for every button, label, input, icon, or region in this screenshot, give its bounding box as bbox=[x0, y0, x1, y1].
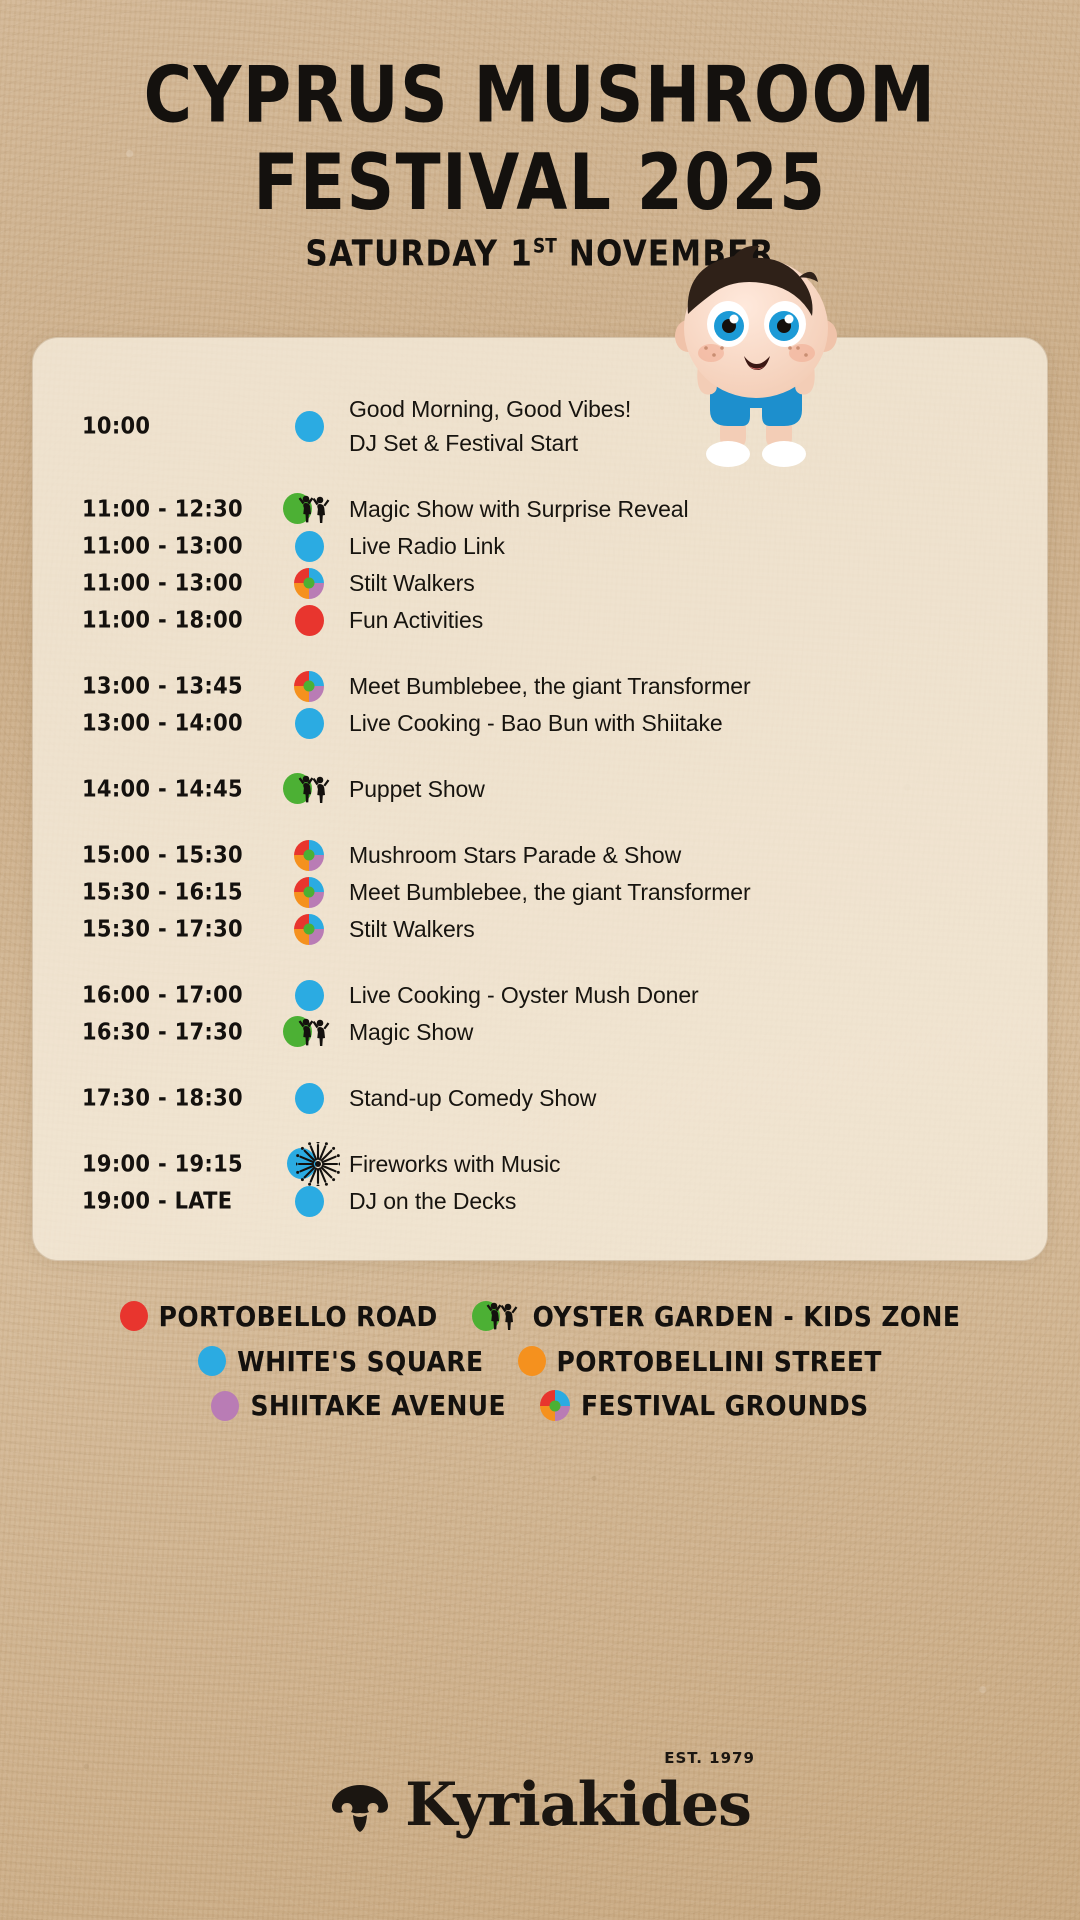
schedule-row-description-line1: Puppet Show bbox=[349, 776, 485, 802]
subtitle-ordinal-suffix: st bbox=[533, 235, 557, 258]
schedule-row-description-line1: Meet Bumblebee, the giant Transformer bbox=[349, 673, 751, 699]
schedule-row-description-line1: Fireworks with Music bbox=[349, 1151, 560, 1177]
schedule-row-venue-icon bbox=[271, 875, 347, 909]
schedule-row-time: 11:00 - 13:00 bbox=[33, 527, 271, 564]
schedule-row-description: Mushroom Stars Parade & Show bbox=[347, 838, 1047, 872]
schedule-row[interactable]: 11:00 - 13:00Live Radio Link bbox=[33, 529, 1047, 565]
schedule-row[interactable]: 17:30 - 18:30Stand-up Comedy Show bbox=[33, 1081, 1047, 1117]
schedule-row-description-line1: Mushroom Stars Parade & Show bbox=[349, 842, 681, 868]
schedule-group: 11:00 - 12:30Magic Show with Surprise Re… bbox=[33, 492, 1047, 639]
schedule-row-time: 16:00 - 17:00 bbox=[33, 976, 271, 1013]
schedule-row[interactable]: 15:30 - 16:15Meet Bumblebee, the giant T… bbox=[33, 875, 1047, 911]
schedule-row-description-line1: Fun Activities bbox=[349, 607, 483, 633]
schedule-group: 19:00 - 19:15Fireworks with Music19:00 -… bbox=[33, 1147, 1047, 1220]
schedule-row-description-line1: Stilt Walkers bbox=[349, 570, 475, 596]
brand-established: EST. 1979 bbox=[664, 1749, 755, 1767]
festival-grounds-icon bbox=[540, 1390, 570, 1421]
schedule-row-time: 10:00 bbox=[33, 407, 271, 444]
schedule-row-venue-icon bbox=[271, 706, 347, 740]
schedule-row-time: 15:00 - 15:30 bbox=[33, 836, 271, 873]
schedule-row[interactable]: 19:00 - 19:15Fireworks with Music bbox=[33, 1147, 1047, 1183]
schedule-row-time: 11:00 - 13:00 bbox=[33, 564, 271, 601]
schedule-row-venue-icon bbox=[271, 1147, 347, 1181]
festival-grounds-icon bbox=[294, 840, 324, 871]
schedule-row[interactable]: 15:30 - 17:30Stilt Walkers bbox=[33, 912, 1047, 948]
schedule-row[interactable]: 16:00 - 17:00Live Cooking - Oyster Mush … bbox=[33, 978, 1047, 1014]
schedule-row-description-line1: Live Radio Link bbox=[349, 533, 505, 559]
schedule-row-time: 17:30 - 18:30 bbox=[33, 1079, 271, 1116]
schedule-row-description-line1: Magic Show bbox=[349, 1019, 473, 1045]
schedule-row[interactable]: 19:00 - LATEDJ on the Decks bbox=[33, 1184, 1047, 1220]
schedule-row[interactable]: 15:00 - 15:30Mushroom Stars Parade & Sho… bbox=[33, 838, 1047, 874]
schedule-row-venue-icon bbox=[271, 1184, 347, 1218]
kids-figures-icon bbox=[484, 1297, 520, 1333]
schedule-row-time: 11:00 - 12:30 bbox=[33, 490, 271, 527]
schedule-row-description: Meet Bumblebee, the giant Transformer bbox=[347, 669, 1047, 703]
red-dot-icon bbox=[295, 605, 324, 636]
festival-grounds-icon bbox=[294, 568, 324, 599]
legend-item: Festival Grounds bbox=[540, 1390, 869, 1421]
schedule-group: 13:00 - 13:45Meet Bumblebee, the giant T… bbox=[33, 669, 1047, 742]
schedule-row-description-line1: Live Cooking - Oyster Mush Doner bbox=[349, 982, 699, 1008]
schedule-row-description-line1: Meet Bumblebee, the giant Transformer bbox=[349, 879, 751, 905]
schedule-row-venue-icon bbox=[271, 1015, 347, 1049]
venue-legend: Portobello RoadOyster Garden - Kids Zone… bbox=[0, 1300, 1080, 1435]
schedule-group: 14:00 - 14:45Puppet Show bbox=[33, 772, 1047, 808]
legend-item-label: White's Square bbox=[237, 1345, 483, 1377]
schedule-row-description: Magic Show bbox=[347, 1015, 1047, 1049]
schedule-row-description: Puppet Show bbox=[347, 772, 1047, 806]
poster-header: Cyprus Mushroom Festival 2025 Saturday 1… bbox=[0, 0, 1080, 272]
fireworks-badge-icon bbox=[287, 1147, 331, 1181]
title-line-2: Festival 2025 bbox=[0, 139, 1080, 226]
schedule-row-venue-icon bbox=[271, 978, 347, 1012]
blue-dot-icon bbox=[295, 708, 324, 739]
legend-item: Oyster Garden - Kids Zone bbox=[472, 1300, 961, 1332]
schedule-row-time: 11:00 - 18:00 bbox=[33, 601, 271, 638]
kids-zone-icon bbox=[283, 492, 335, 526]
schedule-row-venue-icon bbox=[271, 492, 347, 526]
schedule-row-description: DJ on the Decks bbox=[347, 1184, 1047, 1218]
schedule-group: 15:00 - 15:30Mushroom Stars Parade & Sho… bbox=[33, 838, 1047, 948]
schedule-row-description: Stilt Walkers bbox=[347, 566, 1047, 600]
blue-dot-icon bbox=[295, 1083, 324, 1114]
kids-zone-icon bbox=[283, 1015, 335, 1049]
schedule-row[interactable]: 16:30 - 17:30Magic Show bbox=[33, 1015, 1047, 1051]
legend-row: Shiitake AvenueFestival Grounds bbox=[0, 1390, 1080, 1421]
blue-dot-icon bbox=[295, 1186, 324, 1217]
legend-item-label: Oyster Garden - Kids Zone bbox=[533, 1300, 961, 1332]
kids-figures-icon bbox=[296, 490, 332, 526]
schedule-row-description: Stilt Walkers bbox=[347, 912, 1047, 946]
schedule-group: 17:30 - 18:30Stand-up Comedy Show bbox=[33, 1081, 1047, 1117]
schedule-row[interactable]: 10:00Good Morning, Good Vibes!DJ Set & F… bbox=[33, 390, 1047, 462]
blue-dot-icon bbox=[295, 531, 324, 562]
legend-row: Portobello RoadOyster Garden - Kids Zone bbox=[0, 1300, 1080, 1332]
page-title: Cyprus Mushroom Festival 2025 bbox=[0, 52, 1080, 227]
festival-grounds-icon bbox=[294, 671, 324, 702]
schedule-row-venue-icon bbox=[271, 392, 347, 460]
brand-footer: Kyriakides EST. 1979 bbox=[0, 1775, 1080, 1840]
schedule-row-time: 14:00 - 14:45 bbox=[33, 770, 271, 807]
schedule-row-description-line1: Live Cooking - Bao Bun with Shiitake bbox=[349, 710, 723, 736]
mushroom-logo-icon bbox=[329, 1779, 391, 1835]
schedule-row-venue-icon bbox=[271, 566, 347, 600]
schedule-card: 10:00Good Morning, Good Vibes!DJ Set & F… bbox=[32, 337, 1048, 1261]
schedule-row[interactable]: 13:00 - 13:45Meet Bumblebee, the giant T… bbox=[33, 669, 1047, 705]
schedule-row-venue-icon bbox=[271, 603, 347, 637]
schedule-row[interactable]: 13:00 - 14:00Live Cooking - Bao Bun with… bbox=[33, 706, 1047, 742]
schedule-row-description: Stand-up Comedy Show bbox=[347, 1081, 1047, 1115]
schedule-row[interactable]: 11:00 - 12:30Magic Show with Surprise Re… bbox=[33, 492, 1047, 528]
legend-item: Shiitake Avenue bbox=[211, 1391, 506, 1421]
brand-name: Kyriakides bbox=[405, 1775, 751, 1835]
schedule-row-time: 16:30 - 17:30 bbox=[33, 1013, 271, 1050]
legend-item-label: Festival Grounds bbox=[581, 1389, 869, 1421]
mascot-character-illustration bbox=[648, 240, 863, 485]
schedule-row-description-line1: DJ on the Decks bbox=[349, 1188, 516, 1214]
schedule-row-time: 15:30 - 17:30 bbox=[33, 910, 271, 947]
festival-grounds-icon bbox=[294, 877, 324, 908]
schedule-row[interactable]: 14:00 - 14:45Puppet Show bbox=[33, 772, 1047, 808]
red-dot-icon bbox=[120, 1301, 148, 1331]
schedule-row-description-line1: Good Morning, Good Vibes! bbox=[349, 396, 631, 422]
legend-item: White's Square bbox=[198, 1346, 483, 1376]
schedule-row-venue-icon bbox=[271, 838, 347, 872]
schedule-row-venue-icon bbox=[271, 529, 347, 563]
schedule-row-time: 15:30 - 16:15 bbox=[33, 873, 271, 910]
schedule-row-venue-icon bbox=[271, 912, 347, 946]
schedule-row-description: Fireworks with Music bbox=[347, 1147, 1047, 1181]
legend-item-label: Shiitake Avenue bbox=[250, 1389, 506, 1421]
fireworks-icon bbox=[296, 1142, 340, 1186]
schedule-row[interactable]: 11:00 - 18:00Fun Activities bbox=[33, 603, 1047, 639]
schedule-row-time: 13:00 - 13:45 bbox=[33, 667, 271, 704]
schedule-row-time: 19:00 - LATE bbox=[33, 1182, 271, 1219]
schedule-group: 16:00 - 17:00Live Cooking - Oyster Mush … bbox=[33, 978, 1047, 1051]
schedule-row-venue-icon bbox=[271, 669, 347, 703]
kids-zone-icon bbox=[472, 1300, 522, 1332]
legend-item: Portobello Road bbox=[120, 1301, 438, 1331]
legend-item: Portobellini Street bbox=[518, 1346, 882, 1376]
subtitle-prefix: Saturday 1 bbox=[305, 233, 533, 275]
schedule-row-venue-icon bbox=[271, 1081, 347, 1115]
schedule-row-description: Magic Show with Surprise Reveal bbox=[347, 492, 1047, 526]
festival-grounds-icon bbox=[294, 914, 324, 945]
legend-item-label: Portobellini Street bbox=[557, 1345, 882, 1377]
schedule-row-time: 19:00 - 19:15 bbox=[33, 1145, 271, 1182]
event-date-subtitle: Saturday 1st November bbox=[0, 233, 1080, 275]
kids-zone-icon bbox=[283, 772, 335, 806]
purple-dot-icon bbox=[211, 1391, 239, 1421]
schedule-row-description: Meet Bumblebee, the giant Transformer bbox=[347, 875, 1047, 909]
schedule-row[interactable]: 11:00 - 13:00Stilt Walkers bbox=[33, 566, 1047, 602]
schedule-group: 10:00Good Morning, Good Vibes!DJ Set & F… bbox=[33, 390, 1047, 462]
schedule-row-venue-icon bbox=[271, 772, 347, 806]
blue-dot-icon bbox=[295, 980, 324, 1011]
schedule-row-description: Live Cooking - Oyster Mush Doner bbox=[347, 978, 1047, 1012]
kids-figures-icon bbox=[296, 770, 332, 806]
schedule-row-description: Live Radio Link bbox=[347, 529, 1047, 563]
orange-dot-icon bbox=[518, 1346, 546, 1376]
schedule-row-description: Live Cooking - Bao Bun with Shiitake bbox=[347, 706, 1047, 740]
schedule-list: 10:00Good Morning, Good Vibes!DJ Set & F… bbox=[33, 390, 1047, 1220]
kids-figures-icon bbox=[296, 1013, 332, 1049]
schedule-row-description: Fun Activities bbox=[347, 603, 1047, 637]
title-line-1: Cyprus Mushroom bbox=[0, 52, 1080, 139]
schedule-row-description-line1: Stand-up Comedy Show bbox=[349, 1085, 596, 1111]
schedule-row-time: 13:00 - 14:00 bbox=[33, 704, 271, 741]
legend-row: White's SquarePortobellini Street bbox=[0, 1346, 1080, 1376]
blue-dot-icon bbox=[295, 411, 324, 442]
blue-dot-icon bbox=[198, 1346, 226, 1376]
schedule-row-description-line1: Stilt Walkers bbox=[349, 916, 475, 942]
legend-item-label: Portobello Road bbox=[159, 1300, 438, 1332]
schedule-row-description-line1: Magic Show with Surprise Reveal bbox=[349, 496, 689, 522]
